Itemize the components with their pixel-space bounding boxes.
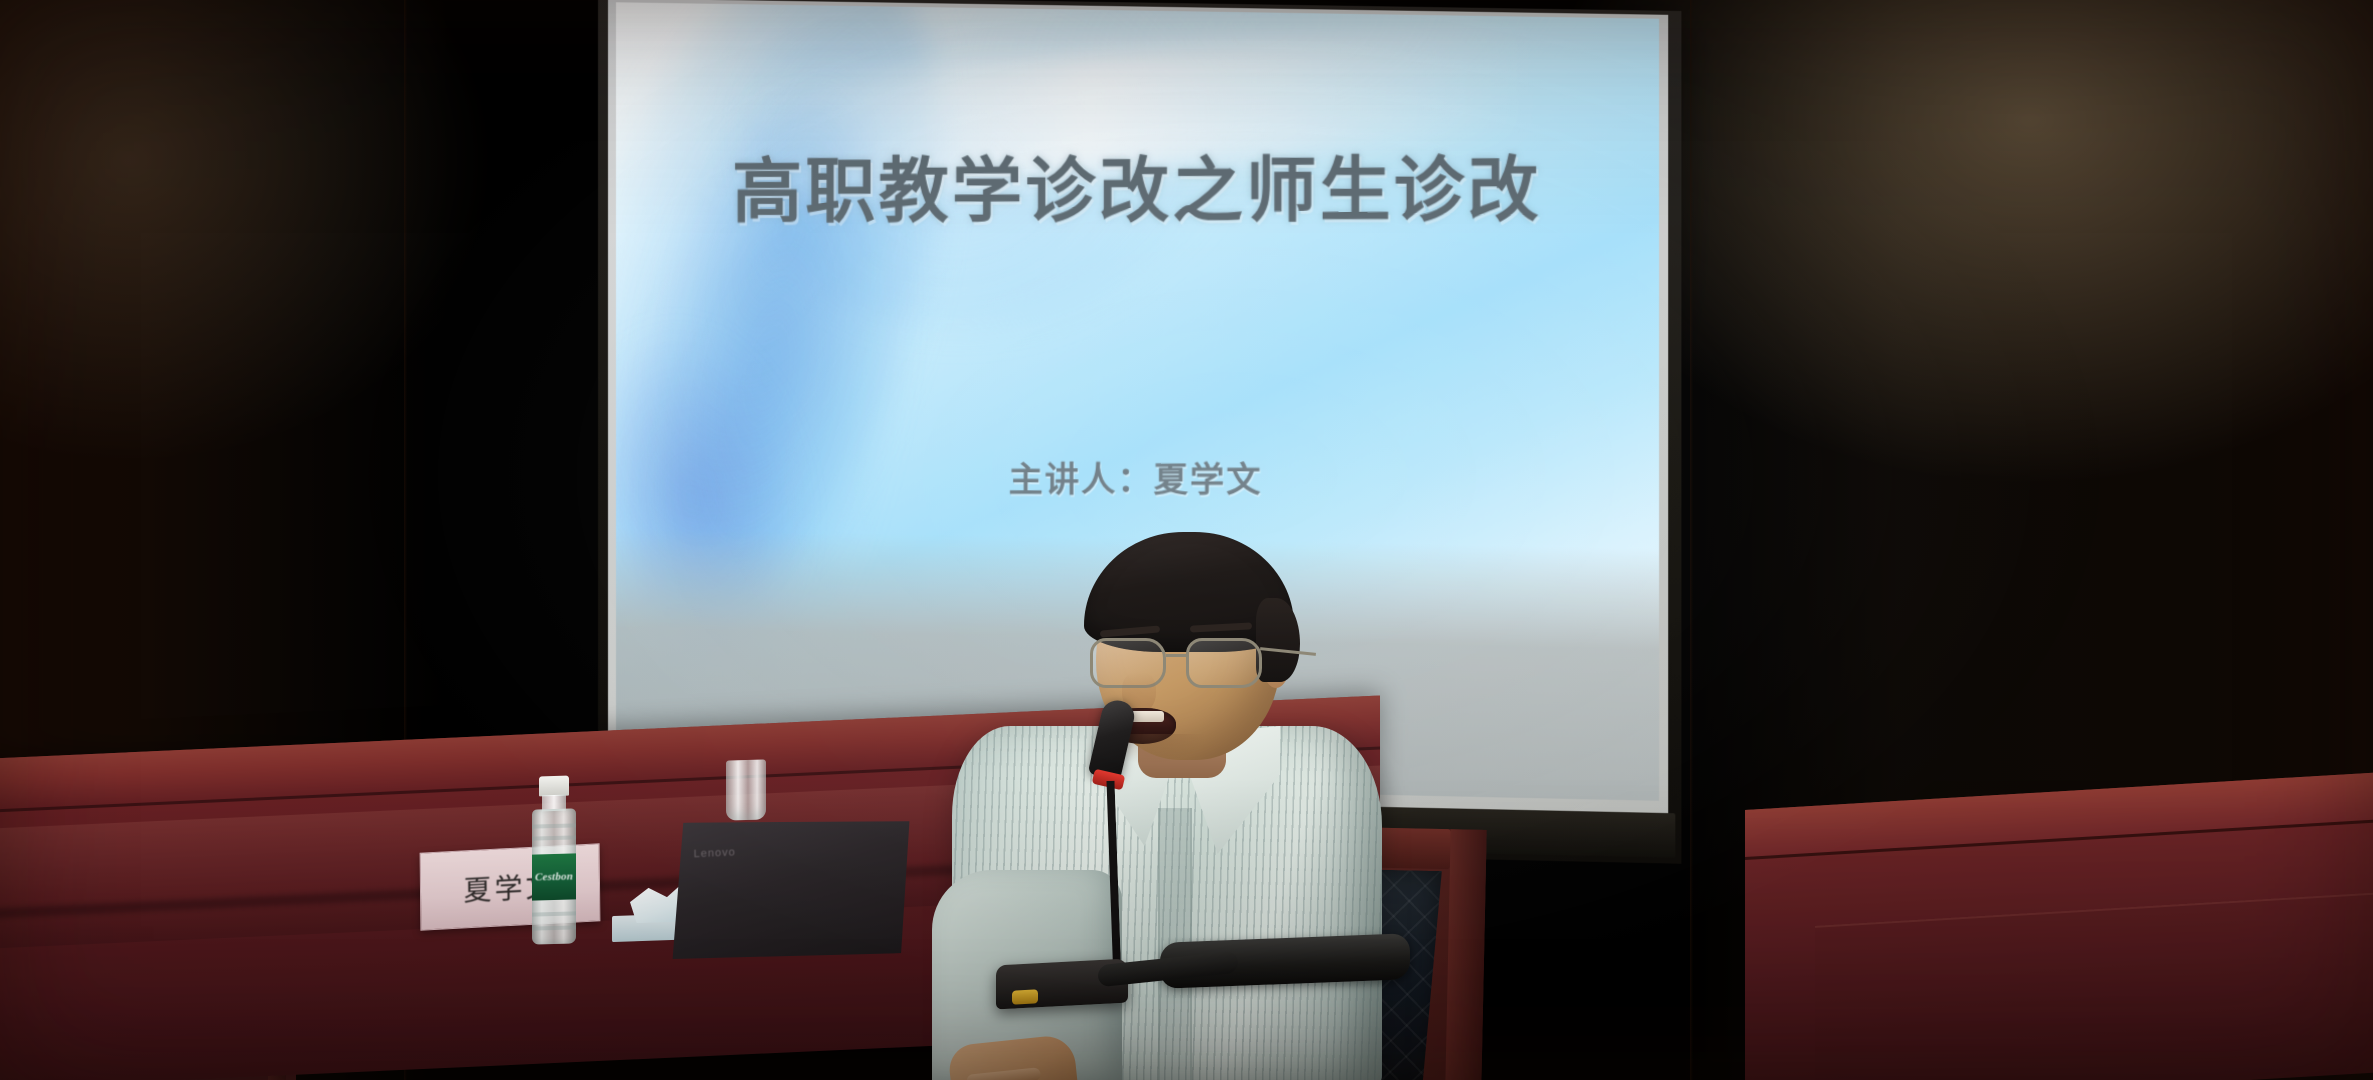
lecture-hall-photo: 高职教学诊改之师生诊改 主讲人：夏学文 夏学文 — [0, 0, 2373, 1080]
microphone-gooseneck — [1041, 781, 1122, 983]
glasses-bridge — [1166, 654, 1188, 657]
bottle-label: Cestbon — [532, 853, 576, 900]
glasses-temple — [1260, 647, 1316, 656]
wall-seam — [1690, 0, 1693, 1080]
finger — [966, 1067, 1041, 1080]
eyeglasses-icon — [1090, 638, 1296, 690]
slide-subtitle-presenter: 主讲人：夏学文 — [616, 452, 1659, 501]
water-glass — [726, 759, 766, 820]
chair-post — [1445, 829, 1486, 1080]
slide-title: 高职教学诊改之师生诊改 — [616, 134, 1659, 238]
lens-right — [1186, 638, 1262, 688]
laptop-brand-text: Lenovo — [694, 846, 736, 860]
laptop-lid — [671, 813, 910, 963]
microphone-head — [1088, 697, 1138, 780]
table-right-panel — [1815, 886, 2373, 1080]
microphone-led-indicator — [1012, 989, 1038, 1004]
bottle-cap — [539, 776, 569, 797]
table-right — [1745, 768, 2373, 1080]
water-bottle: Cestbon — [530, 775, 578, 944]
bottle-brand-text: Cestbon — [535, 871, 573, 884]
microphone[interactable] — [1008, 700, 1178, 1000]
laptop[interactable]: Lenovo — [671, 813, 910, 963]
